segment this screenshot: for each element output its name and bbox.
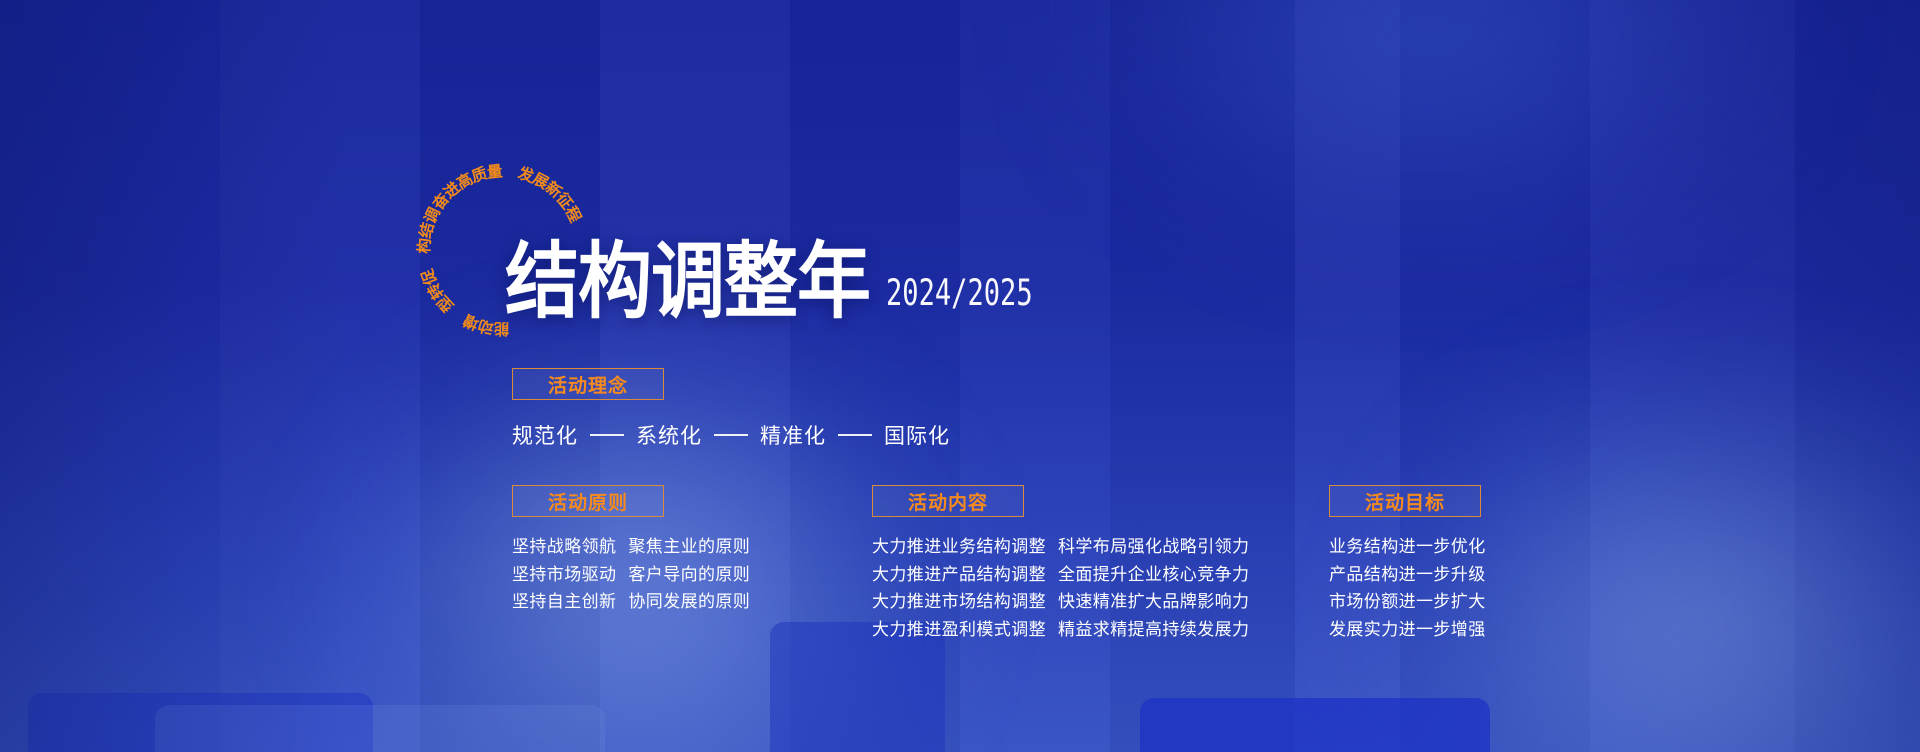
concept-separator	[714, 434, 748, 436]
concept-item: 精准化	[760, 420, 826, 450]
list-item-primary: 发展实力进一步增强	[1329, 616, 1486, 644]
banner-canvas: 奋进高质量发展新征程调结构促转型增动能 结构调整年 2024/2025 活动理念…	[0, 0, 1920, 752]
concept-item: 规范化	[512, 420, 578, 450]
list-item-primary: 坚持市场驱动	[512, 561, 616, 589]
list-item: 发展实力进一步增强	[1329, 616, 1486, 644]
goals-lines: 业务结构进一步优化产品结构进一步升级市场份额进一步扩大发展实力进一步增强	[1329, 533, 1486, 643]
column-contents: 活动内容 大力推进业务结构调整科学布局强化战略引领力大力推进产品结构调整全面提升…	[872, 485, 1249, 643]
list-item-primary: 大力推进产品结构调整	[872, 561, 1046, 589]
list-item-secondary: 科学布局强化战略引领力	[1058, 533, 1249, 561]
contents-lines: 大力推进业务结构调整科学布局强化战略引领力大力推进产品结构调整全面提升企业核心竞…	[872, 533, 1249, 643]
concept-item: 国际化	[884, 420, 950, 450]
list-item-secondary: 聚焦主业的原则	[628, 533, 750, 561]
list-item-secondary: 精益求精提高持续发展力	[1058, 616, 1249, 644]
list-item-primary: 市场份额进一步扩大	[1329, 588, 1486, 616]
badge-contents: 活动内容	[872, 485, 1024, 517]
ring-character: 量	[486, 162, 504, 182]
list-item-primary: 大力推进盈利模式调整	[872, 616, 1046, 644]
column-goals: 活动目标 业务结构进一步优化产品结构进一步升级市场份额进一步扩大发展实力进一步增…	[1329, 485, 1486, 643]
list-item: 坚持战略领航聚焦主业的原则	[512, 533, 750, 561]
list-item: 大力推进业务结构调整科学布局强化战略引领力	[872, 533, 1249, 561]
list-item-primary: 业务结构进一步优化	[1329, 533, 1486, 561]
badge-principles: 活动原则	[512, 485, 664, 517]
list-item: 坚持市场驱动客户导向的原则	[512, 561, 750, 589]
list-item: 大力推进产品结构调整全面提升企业核心竞争力	[872, 561, 1249, 589]
principles-lines: 坚持战略领航聚焦主业的原则坚持市场驱动客户导向的原则坚持自主创新协同发展的原则	[512, 533, 750, 616]
list-item: 产品结构进一步升级	[1329, 561, 1486, 589]
badge-concept: 活动理念	[512, 368, 664, 400]
badge-goals: 活动目标	[1329, 485, 1481, 517]
title-year: 2024/2025	[886, 271, 1033, 314]
list-item: 业务结构进一步优化	[1329, 533, 1486, 561]
column-principles: 活动原则 坚持战略领航聚焦主业的原则坚持市场驱动客户导向的原则坚持自主创新协同发…	[512, 485, 750, 616]
list-item: 市场份额进一步扩大	[1329, 588, 1486, 616]
background-rect-1	[155, 705, 605, 752]
ring-character: 构	[414, 238, 434, 254]
concept-separator	[590, 434, 624, 436]
list-item-primary: 坚持自主创新	[512, 588, 616, 616]
concept-item: 系统化	[636, 420, 702, 450]
list-item: 坚持自主创新协同发展的原则	[512, 588, 750, 616]
background-band-0	[0, 0, 220, 752]
list-item-primary: 大力推进市场结构调整	[872, 588, 1046, 616]
list-item: 大力推进市场结构调整快速精准扩大品牌影响力	[872, 588, 1249, 616]
title-block: 结构调整年 2024/2025	[505, 250, 1065, 321]
list-item-secondary: 全面提升企业核心竞争力	[1058, 561, 1249, 589]
list-item-primary: 大力推进业务结构调整	[872, 533, 1046, 561]
list-item-secondary: 客户导向的原则	[628, 561, 750, 589]
concept-list: 规范化系统化精准化国际化	[512, 420, 950, 450]
list-item-primary: 坚持战略领航	[512, 533, 616, 561]
concept-separator	[838, 434, 872, 436]
background-rect-3	[1140, 698, 1490, 752]
list-item-primary: 产品结构进一步升级	[1329, 561, 1486, 589]
list-item-secondary: 协同发展的原则	[628, 588, 750, 616]
page-title: 结构调整年	[505, 241, 870, 321]
list-item-secondary: 快速精准扩大品牌影响力	[1058, 588, 1249, 616]
list-item: 大力推进盈利模式调整精益求精提高持续发展力	[872, 616, 1249, 644]
